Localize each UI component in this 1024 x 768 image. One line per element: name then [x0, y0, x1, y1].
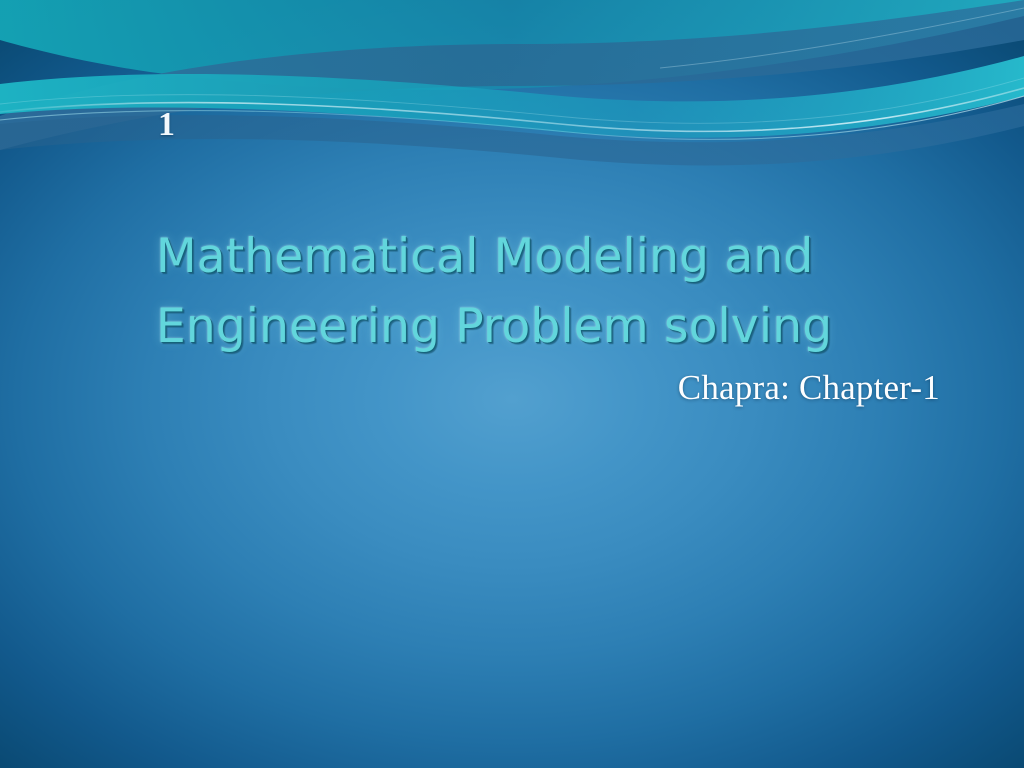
wave-hairline-tertiary: [0, 78, 1024, 123]
wave-band-cyan: [0, 56, 1024, 138]
wave-band-dark-blue: [0, 0, 1024, 150]
wave-band-dark-blue-secondary: [0, 104, 1024, 165]
wave-ribbon-header: [0, 0, 1024, 180]
wave-hairline-primary: [0, 88, 1024, 131]
wave-hairline-top-right: [660, 8, 1024, 68]
slide-number: 1: [158, 108, 175, 142]
presentation-slide: 1 Mathematical Modeling and Engineering …: [0, 0, 1024, 768]
title-line-2: Engineering Problem solving: [156, 292, 886, 362]
wave-decoration-svg: [0, 0, 1024, 180]
wave-hairline-secondary: [0, 96, 1024, 139]
title-line-1: Mathematical Modeling and: [156, 222, 886, 292]
page-title: Mathematical Modeling and Engineering Pr…: [156, 222, 886, 362]
subtitle-source-reference: Chapra: Chapter-1: [156, 366, 940, 410]
wave-band-teal-top: [0, 0, 1024, 90]
